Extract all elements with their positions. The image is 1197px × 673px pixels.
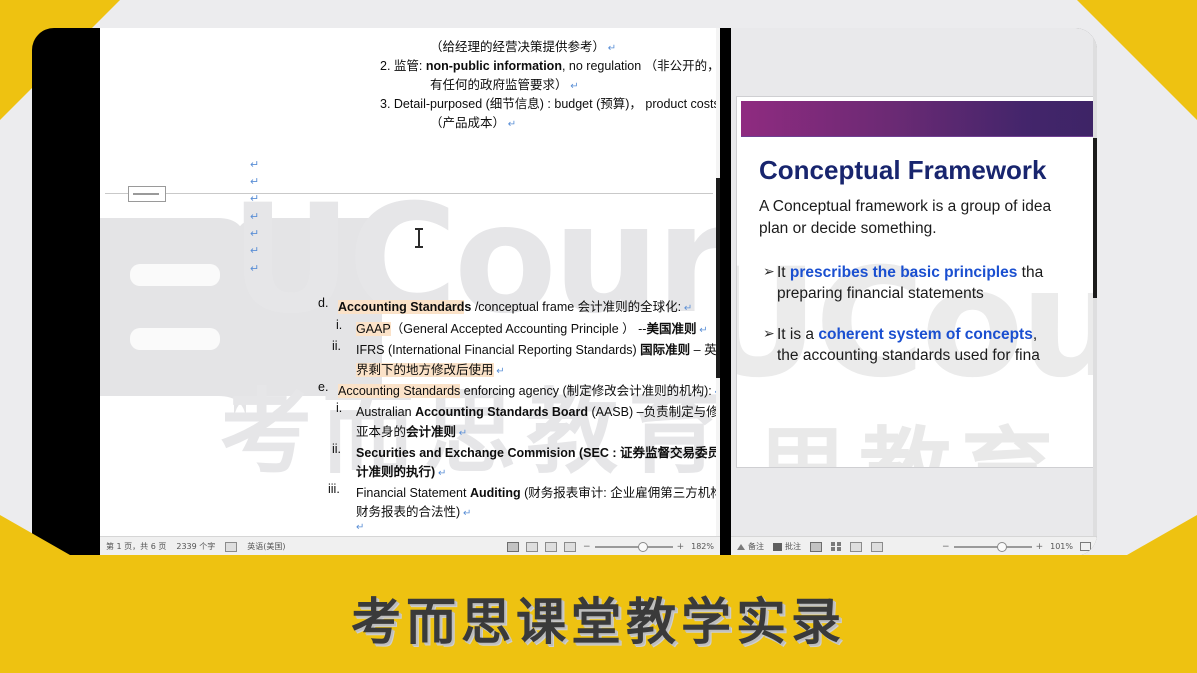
window-divider bbox=[720, 28, 731, 556]
outline-line: 亚本身的会计准则 ↵ bbox=[356, 421, 467, 440]
outline-marker: e. bbox=[318, 380, 328, 394]
ppt-slide[interactable]: UCourse 思教育 Conceptual Framework A Conce… bbox=[736, 96, 1097, 468]
outline-marker: i. bbox=[336, 401, 342, 415]
text-run: 亚本身的 bbox=[356, 425, 406, 439]
text-run: Accounting Standard bbox=[338, 300, 464, 314]
ppt-vertical-scrollbar[interactable] bbox=[1093, 28, 1097, 536]
word-vertical-scrollbar[interactable] bbox=[716, 28, 720, 536]
text-run: 计准则的执行) bbox=[356, 465, 435, 479]
normal-view-icon[interactable] bbox=[810, 542, 822, 552]
outline-marker: i. bbox=[336, 318, 342, 332]
outline-marker: ii. bbox=[332, 442, 341, 456]
print-layout-view-icon[interactable] bbox=[507, 542, 519, 552]
text-run: GAAP bbox=[356, 322, 391, 336]
text-run: Accounting Standards bbox=[338, 384, 460, 398]
zoom-out-button[interactable]: − bbox=[583, 542, 591, 552]
word-language[interactable]: 英语(美国) bbox=[247, 541, 285, 552]
text-run: 界剩下的地方修改后使用 bbox=[356, 363, 494, 377]
bullet-arrow-icon: ➢ bbox=[763, 325, 775, 342]
text-run: (AASB) –负责制定与修改澳大利 bbox=[588, 405, 718, 419]
slide-bullet-line: It is a coherent system of concepts, bbox=[777, 325, 1037, 345]
slide-bullet-line: the accounting standards used for fina bbox=[777, 346, 1040, 366]
paragraph-mark: ↵ bbox=[494, 366, 505, 377]
ppt-notes-label: 备注 bbox=[748, 541, 764, 552]
zoom-track[interactable] bbox=[595, 546, 673, 548]
outline-line: Accounting Standards enforcing agency (制… bbox=[338, 380, 718, 399]
ppt-slide-canvas[interactable]: UCourse 思教育 Conceptual Framework A Conce… bbox=[731, 28, 1097, 536]
slide-bullet-line: It prescribes the basic principles tha bbox=[777, 263, 1043, 283]
text-run: Australian bbox=[356, 405, 415, 419]
bullet-arrow-icon: ➢ bbox=[763, 263, 775, 280]
slide-paragraph-line: A Conceptual framework is a group of ide… bbox=[759, 197, 1051, 217]
text-run: 美国准则 bbox=[646, 322, 696, 336]
text-run: 会计准则 bbox=[406, 425, 456, 439]
ppt-scrollbar-thumb[interactable] bbox=[1093, 138, 1097, 298]
outline-line: Financial Statement Auditing (财务报表审计: 企业… bbox=[356, 482, 718, 501]
text-run: the accounting standards used for fina bbox=[777, 347, 1040, 364]
outline-line: Securities and Exchange Commision (SEC :… bbox=[356, 442, 718, 461]
text-run: 财务报表的合法性) bbox=[356, 505, 460, 519]
outline-line: ↵ bbox=[356, 519, 364, 533]
outline-line: Accounting Standards /conceptual frame 会… bbox=[338, 296, 692, 315]
text-run: 国际准则 bbox=[640, 343, 690, 357]
paragraph-mark: ↵ bbox=[460, 508, 471, 519]
ppt-notes-button[interactable]: 备注 bbox=[737, 541, 764, 552]
word-word-count[interactable]: 2339 个字 bbox=[176, 541, 215, 552]
ppt-zoom-slider[interactable]: − + bbox=[942, 542, 1043, 552]
outline-marker: ii. bbox=[332, 339, 341, 353]
word-document-page[interactable]: UCourse 考而思教育 （给经理的经营决策提供参考） ↵2. 监管: non… bbox=[100, 28, 718, 536]
text-run: Financial Statement bbox=[356, 486, 470, 500]
word-status-bar[interactable]: 第 1 页，共 6 页 2339 个字 英语(美国) − bbox=[100, 536, 720, 556]
decorative-notch-right bbox=[1127, 515, 1197, 555]
text-run: tha bbox=[1017, 264, 1043, 281]
word-outline-content[interactable]: d.Accounting Standards /conceptual frame… bbox=[100, 28, 718, 516]
word-window[interactable]: UCourse 考而思教育 （给经理的经营决策提供参考） ↵2. 监管: non… bbox=[100, 28, 720, 556]
text-run: (财务报表审计: 企业雇佣第三方机构验证 bbox=[521, 486, 718, 500]
watermark-brand-cn-ppt: 思教育 bbox=[757, 397, 1063, 468]
text-run: Securities and Exchange Commision (SEC :… bbox=[356, 446, 718, 460]
outline-marker: d. bbox=[318, 296, 328, 310]
ppt-comments-label: 批注 bbox=[785, 541, 801, 552]
text-run: Accounting Standards Board bbox=[415, 405, 588, 419]
text-run: It bbox=[777, 264, 790, 281]
text-run: It is a bbox=[777, 326, 818, 343]
reading-view-icon[interactable] bbox=[850, 542, 862, 552]
text-run: coherent system of concepts bbox=[818, 326, 1032, 343]
text-run: enforcing agency (制定修改会计准则的机构): bbox=[460, 384, 711, 398]
slide-title: Conceptual Framework bbox=[759, 155, 1047, 186]
device-frame: UCourse 考而思教育 （给经理的经营决策提供参考） ↵2. 监管: non… bbox=[32, 28, 1097, 556]
comments-icon bbox=[773, 543, 782, 551]
fit-to-window-icon[interactable] bbox=[1080, 542, 1091, 551]
draft-view-icon[interactable] bbox=[564, 542, 576, 552]
text-run: /conceptual frame 会计准则的全球化: bbox=[471, 300, 681, 314]
paragraph-mark: ↵ bbox=[356, 522, 364, 533]
video-caption: 考而思课堂教学实录 bbox=[0, 585, 1197, 651]
word-zoom-slider[interactable]: − + bbox=[583, 542, 684, 552]
text-run: prescribes the basic principles bbox=[790, 264, 1017, 281]
ppt-zoom-track[interactable] bbox=[954, 546, 1032, 548]
outline-line: 财务报表的合法性) ↵ bbox=[356, 501, 471, 520]
paragraph-mark: ↵ bbox=[696, 325, 707, 336]
text-run: preparing financial statements bbox=[777, 285, 984, 302]
outline-line: Australian Accounting Standards Board (A… bbox=[356, 401, 718, 420]
proofing-icon[interactable] bbox=[225, 542, 237, 552]
text-run: IFRS (International Financial Reporting … bbox=[356, 343, 640, 357]
ppt-status-bar[interactable]: 备注 批注 − bbox=[731, 536, 1097, 556]
ppt-zoom-knob[interactable] bbox=[997, 542, 1007, 552]
outline-marker: iii. bbox=[328, 482, 340, 496]
outline-line: GAAP（General Accepted Accounting Princip… bbox=[356, 318, 708, 337]
powerpoint-window[interactable]: UCourse 思教育 Conceptual Framework A Conce… bbox=[731, 28, 1097, 556]
ppt-comments-button[interactable]: 批注 bbox=[773, 541, 801, 552]
word-zoom-level[interactable]: 182% bbox=[691, 542, 714, 551]
text-run: Auditing bbox=[470, 486, 521, 500]
outline-line: IFRS (International Financial Reporting … bbox=[356, 339, 718, 358]
paragraph-mark: ↵ bbox=[435, 468, 446, 479]
slide-accent-bar bbox=[741, 101, 1097, 137]
paragraph-mark: ↵ bbox=[456, 428, 467, 439]
text-run: , bbox=[1033, 326, 1037, 343]
screen-area: UCourse 考而思教育 （给经理的经营决策提供参考） ↵2. 监管: non… bbox=[100, 28, 1097, 556]
word-page-indicator[interactable]: 第 1 页，共 6 页 bbox=[106, 541, 166, 552]
notes-icon bbox=[737, 544, 745, 550]
slide-sorter-icon[interactable] bbox=[831, 542, 841, 552]
slide-bullet-line: preparing financial statements bbox=[777, 284, 984, 304]
slide-paragraph-line: plan or decide something. bbox=[759, 219, 937, 239]
outline-view-icon[interactable] bbox=[545, 542, 557, 552]
paragraph-mark: ↵ bbox=[681, 303, 692, 314]
screenshot-stage: UCourse 考而思教育 （给经理的经营决策提供参考） ↵2. 监管: non… bbox=[0, 0, 1197, 673]
text-run: – 英国/全世 bbox=[690, 343, 718, 357]
ppt-zoom-in-button[interactable]: + bbox=[1036, 542, 1044, 552]
text-run: （General Accepted Accounting Principle ）… bbox=[391, 322, 647, 336]
zoom-knob[interactable] bbox=[638, 542, 648, 552]
ppt-zoom-out-button[interactable]: − bbox=[942, 542, 950, 552]
web-layout-view-icon[interactable] bbox=[526, 542, 538, 552]
outline-line: 计准则的执行) ↵ bbox=[356, 461, 446, 480]
outline-line: 界剩下的地方修改后使用 ↵ bbox=[356, 359, 505, 378]
zoom-in-button[interactable]: + bbox=[677, 542, 685, 552]
slideshow-icon[interactable] bbox=[871, 542, 883, 552]
decorative-notch-left bbox=[0, 515, 70, 555]
word-scrollbar-thumb[interactable] bbox=[716, 178, 720, 378]
ppt-zoom-level[interactable]: 101% bbox=[1050, 542, 1073, 551]
